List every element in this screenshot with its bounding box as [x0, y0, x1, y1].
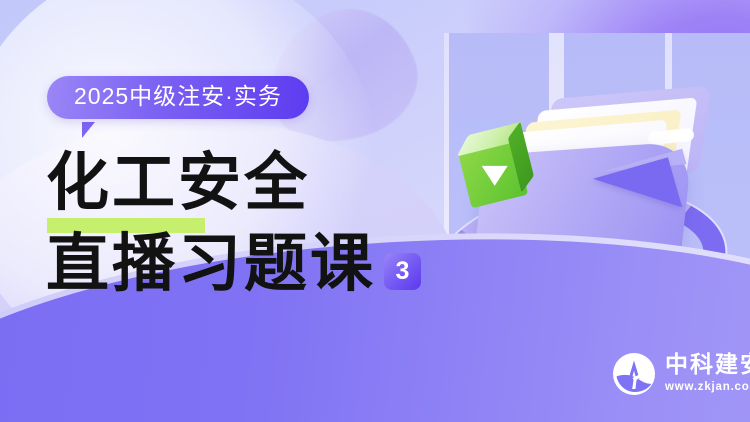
page-title: 化工安全 直播习题课3 — [46, 152, 421, 296]
headline-line-2: 直播习题课3 — [46, 233, 421, 296]
company-name: 中科建安 — [665, 351, 750, 377]
headline-line-2-text: 直播习题课 — [46, 229, 376, 299]
headline-line-1-text: 化工安全 — [46, 148, 310, 218]
badge-tail — [82, 122, 104, 138]
play-cube-icon — [455, 127, 530, 202]
episode-number-badge: 3 — [384, 253, 421, 290]
brand-logo: 中科建安 www.zkjan.com — [612, 352, 750, 396]
headline-line-1: 化工安全 — [46, 152, 421, 215]
logo-text-block: 中科建安 www.zkjan.com — [665, 352, 750, 396]
play-triangle-icon — [482, 166, 508, 186]
zkjan-circle-logo-icon — [612, 352, 656, 396]
website-url: www.zkjan.com — [665, 381, 750, 393]
course-badge: 2025中级注安·实务 — [47, 76, 309, 119]
course-banner: 2025中级注安·实务 化工安全 直播习题课3 中科建安 www.zkjan.c… — [0, 0, 750, 422]
